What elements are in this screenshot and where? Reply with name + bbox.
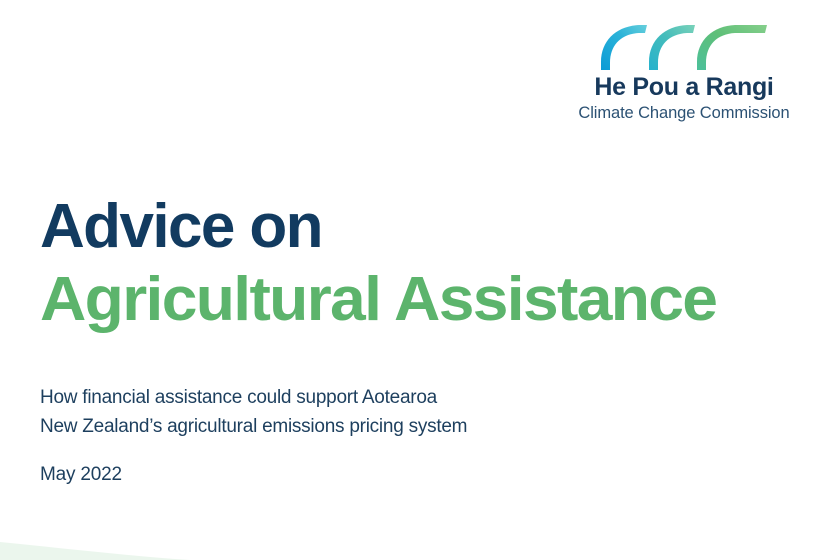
cover-title-block: Advice on Agricultural Assistance <box>40 196 830 331</box>
logo-arcs-icon <box>591 18 777 70</box>
bottom-left-wedge-decoration <box>0 534 190 560</box>
cover-subtitle-line-1: How financial assistance could support A… <box>40 384 467 413</box>
logo-title-maori: He Pou a Rangi <box>573 74 795 100</box>
cover-title-line-1: Advice on <box>40 196 830 257</box>
cover-subtitle: How financial assistance could support A… <box>40 384 467 442</box>
cover-date: May 2022 <box>40 464 122 486</box>
organisation-logo: He Pou a Rangi Climate Change Commission <box>573 18 795 125</box>
logo-subtitle-english: Climate Change Commission <box>573 102 795 125</box>
cover-page: He Pou a Rangi Climate Change Commission… <box>0 0 840 560</box>
cover-subtitle-line-2: New Zealand’s agricultural emissions pri… <box>40 413 467 442</box>
cover-title-line-2: Agricultural Assistance <box>40 269 840 331</box>
